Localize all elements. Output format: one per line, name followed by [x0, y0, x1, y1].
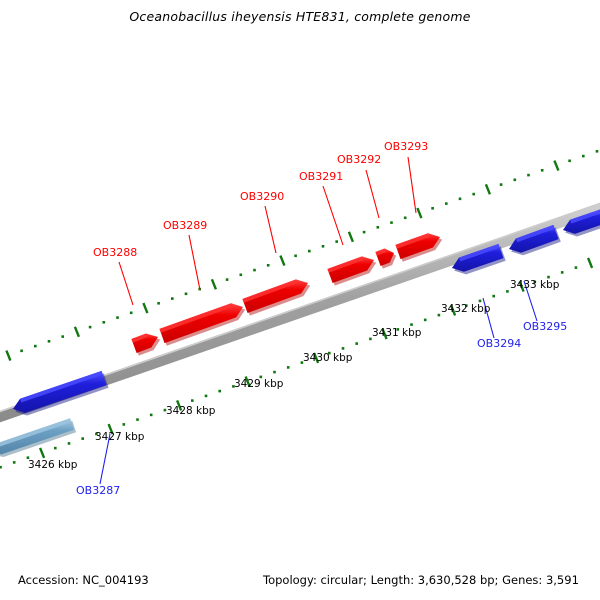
- scale-tick-label: 3426 kbp: [28, 459, 78, 471]
- gene-OB3292[interactable]: [375, 249, 396, 269]
- gene-label-OB3289[interactable]: OB3289: [163, 219, 207, 232]
- genome-map-canvas[interactable]: OB3288OB3289OB3290OB3291OB3292OB3293OB32…: [0, 0, 600, 600]
- leader-line-OB3292: [366, 170, 379, 218]
- gene-label-OB3288[interactable]: OB3288: [93, 246, 137, 259]
- gene-label-OB3295[interactable]: OB3295: [523, 320, 567, 333]
- scale-tick-label: 3430 kbp: [303, 352, 353, 364]
- scale-tick-label: 3433 kbp: [510, 279, 560, 291]
- genome-summary-status: Topology: circular; Length: 3,630,528 bp…: [263, 573, 579, 587]
- leader-line-OB3288: [119, 262, 133, 305]
- gene-label-OB3293[interactable]: OB3293: [384, 140, 428, 153]
- accession-status: Accession: NC_004193: [18, 573, 149, 587]
- rna-feature-left[interactable]: [0, 418, 76, 457]
- gene-OB3288[interactable]: [131, 334, 160, 356]
- rna-gene-group[interactable]: [0, 418, 76, 457]
- gene-label-OB3287[interactable]: OB3287: [76, 484, 120, 497]
- label-leader-lines: [100, 157, 537, 484]
- leader-line-OB3290: [265, 206, 276, 253]
- scale-tick-label: 3431 kbp: [372, 327, 422, 339]
- genome-map-viewer: Oceanobacillus iheyensis HTE831, complet…: [0, 0, 600, 600]
- gene-label-OB3292[interactable]: OB3292: [337, 153, 381, 166]
- gene-label-OB3291[interactable]: OB3291: [299, 170, 343, 183]
- gene-label-group[interactable]: OB3288OB3289OB3290OB3291OB3292OB3293OB32…: [76, 140, 567, 497]
- gene-OB3291[interactable]: [327, 256, 376, 285]
- leader-line-OB3293: [408, 157, 416, 213]
- leader-line-OB3289: [189, 235, 200, 290]
- leader-line-OB3291: [323, 186, 343, 245]
- gene-label-OB3294[interactable]: OB3294: [477, 337, 521, 350]
- scale-tick-label: 3429 kbp: [234, 378, 284, 390]
- scale-tick-label: 3427 kbp: [95, 431, 145, 443]
- gene-OB3287[interactable]: [13, 371, 109, 416]
- scale-tick-label: 3428 kbp: [166, 405, 216, 417]
- gene-label-OB3290[interactable]: OB3290: [240, 190, 284, 203]
- gene-OB3293[interactable]: [396, 233, 443, 261]
- scale-tick-label: 3432 kbp: [441, 303, 491, 315]
